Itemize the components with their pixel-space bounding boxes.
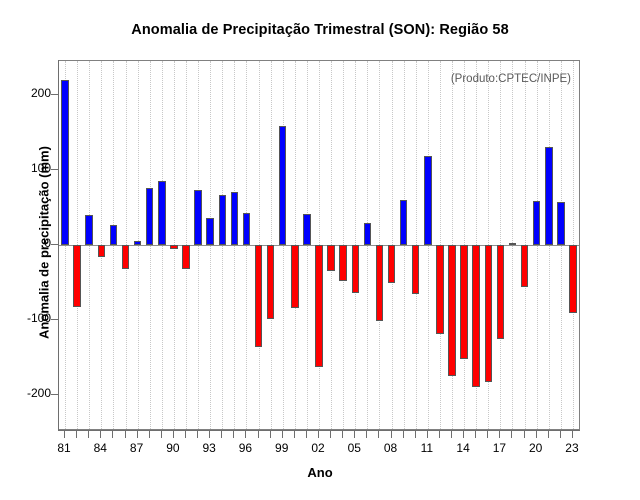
x-tick: [560, 431, 561, 438]
x-tick: [318, 431, 319, 438]
bar-2022: [557, 202, 564, 245]
x-tick-label: 93: [194, 441, 224, 455]
bar-2023: [569, 245, 576, 313]
bar-series: [59, 61, 579, 429]
bar-1981: [61, 80, 68, 245]
bar-2017: [497, 245, 504, 339]
bar-1986: [122, 245, 129, 269]
x-tick: [511, 431, 512, 438]
bar-1998: [267, 245, 274, 319]
bar-2018: [509, 243, 516, 245]
x-tick: [233, 431, 234, 438]
x-tick: [548, 431, 549, 438]
y-tick: [51, 319, 58, 320]
bar-1997: [255, 245, 262, 347]
bar-2008: [388, 245, 395, 283]
x-tick: [64, 431, 65, 438]
x-tick: [463, 431, 464, 438]
x-tick: [125, 431, 126, 438]
x-tick: [161, 431, 162, 438]
bar-2009: [400, 200, 407, 245]
bar-2002: [315, 245, 322, 367]
x-tick: [245, 431, 246, 438]
x-tick: [342, 431, 343, 438]
x-tick-label: 96: [230, 441, 260, 455]
x-tick: [173, 431, 174, 438]
bar-2007: [376, 245, 383, 321]
x-tick: [294, 431, 295, 438]
x-tick-label: 11: [412, 441, 442, 455]
bar-2016: [485, 245, 492, 382]
bar-1996: [243, 213, 250, 245]
x-tick: [209, 431, 210, 438]
x-tick: [451, 431, 452, 438]
x-tick-label: 81: [49, 441, 79, 455]
bar-2019: [521, 245, 528, 287]
x-tick-label: 99: [267, 441, 297, 455]
x-axis-title: Ano: [0, 465, 640, 480]
bar-1988: [146, 188, 153, 245]
bar-1985: [110, 225, 117, 245]
x-tick-label: 90: [158, 441, 188, 455]
bar-2015: [472, 245, 479, 387]
x-tick: [403, 431, 404, 438]
x-tick: [282, 431, 283, 438]
x-tick: [427, 431, 428, 438]
x-tick: [475, 431, 476, 438]
x-tick-label: 05: [339, 441, 369, 455]
bar-1999: [279, 126, 286, 245]
x-tick: [112, 431, 113, 438]
x-tick-label: 14: [448, 441, 478, 455]
x-tick: [572, 431, 573, 438]
x-tick: [391, 431, 392, 438]
x-tick: [185, 431, 186, 438]
x-tick: [76, 431, 77, 438]
x-tick-label: 17: [484, 441, 514, 455]
bar-2011: [424, 156, 431, 245]
bar-2010: [412, 245, 419, 294]
x-tick: [524, 431, 525, 438]
bar-1983: [85, 215, 92, 245]
x-tick: [270, 431, 271, 438]
x-tick: [221, 431, 222, 438]
precipitation-anomaly-chart: Anomalia de Precipitação Trimestral (SON…: [0, 0, 640, 500]
x-tick-label: 08: [376, 441, 406, 455]
x-tick: [366, 431, 367, 438]
bar-2006: [364, 223, 371, 245]
bar-1982: [73, 245, 80, 307]
bar-1993: [206, 218, 213, 245]
x-tick: [536, 431, 537, 438]
bar-2013: [448, 245, 455, 376]
x-tick: [197, 431, 198, 438]
x-tick: [499, 431, 500, 438]
y-tick: [51, 169, 58, 170]
x-tick: [415, 431, 416, 438]
x-tick-label: 20: [521, 441, 551, 455]
bar-2014: [460, 245, 467, 359]
x-tick: [88, 431, 89, 438]
x-tick: [487, 431, 488, 438]
plot-area: (Produto:CPTEC/INPE): [58, 60, 580, 430]
chart-title: Anomalia de Precipitação Trimestral (SON…: [0, 22, 640, 38]
bar-2005: [352, 245, 359, 293]
y-tick: [51, 94, 58, 95]
x-tick-label: 23: [557, 441, 587, 455]
x-tick: [378, 431, 379, 438]
bar-2004: [339, 245, 346, 281]
x-tick: [439, 431, 440, 438]
y-tick: [51, 244, 58, 245]
bar-1992: [194, 190, 201, 245]
y-axis-title: Anomalia de precipitação (mm): [37, 73, 52, 413]
bar-2003: [327, 245, 334, 271]
bar-1991: [182, 245, 189, 269]
x-tick: [100, 431, 101, 438]
y-axis-line: [58, 60, 59, 430]
x-tick-label: 02: [303, 441, 333, 455]
x-tick: [306, 431, 307, 438]
bar-1994: [219, 195, 226, 245]
source-annotation: (Produto:CPTEC/INPE): [451, 73, 571, 85]
bar-1984: [98, 245, 105, 257]
bar-2001: [303, 214, 310, 245]
bar-1995: [231, 192, 238, 245]
bar-1987: [134, 241, 141, 245]
bar-1990: [170, 245, 177, 249]
bar-2020: [533, 201, 540, 245]
x-tick: [137, 431, 138, 438]
bar-2021: [545, 147, 552, 245]
x-tick: [354, 431, 355, 438]
x-tick: [149, 431, 150, 438]
x-tick-label: 84: [85, 441, 115, 455]
x-tick-label: 87: [122, 441, 152, 455]
x-tick: [330, 431, 331, 438]
y-tick: [51, 394, 58, 395]
bar-2012: [436, 245, 443, 334]
x-tick: [258, 431, 259, 438]
bar-2000: [291, 245, 298, 308]
bar-1989: [158, 181, 165, 245]
